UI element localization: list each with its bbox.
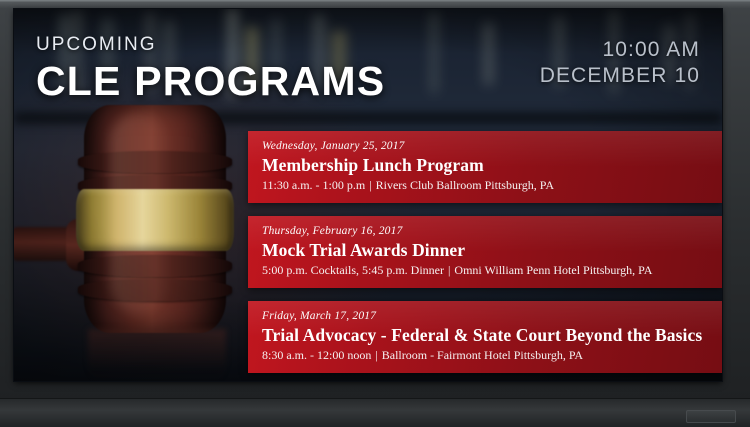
event-details: 5:00 p.m. Cocktails, 5:45 p.m. Dinner|Om… — [262, 263, 708, 278]
event-time: 11:30 a.m. - 1:00 p.m — [262, 178, 365, 192]
monitor-brand-plate — [686, 410, 736, 423]
display-screen: UPCOMING CLE PROGRAMS 10:00 AM DECEMBER … — [14, 9, 722, 381]
event-separator: | — [365, 178, 375, 192]
digital-signage-monitor: UPCOMING CLE PROGRAMS 10:00 AM DECEMBER … — [0, 0, 750, 427]
event-separator: | — [444, 263, 454, 277]
event-card[interactable]: Thursday, February 16, 2017 Mock Trial A… — [248, 216, 722, 288]
event-location: Rivers Club Ballroom Pittsburgh, PA — [376, 178, 554, 192]
gavel-reflection — [88, 329, 226, 381]
clock-block: 10:00 AM DECEMBER 10 — [540, 37, 700, 88]
bezel-top-edge — [0, 0, 750, 3]
event-time: 8:30 a.m. - 12:00 noon — [262, 348, 371, 362]
event-time: 5:00 p.m. Cocktails, 5:45 p.m. Dinner — [262, 263, 444, 277]
event-title: Mock Trial Awards Dinner — [262, 240, 708, 261]
event-details: 8:30 a.m. - 12:00 noon|Ballroom - Fairmo… — [262, 348, 708, 363]
kicker-text: UPCOMING — [36, 35, 385, 54]
gavel-highlight — [110, 113, 168, 313]
title-block: UPCOMING CLE PROGRAMS — [36, 35, 385, 102]
event-date: Wednesday, January 25, 2017 — [262, 140, 708, 154]
event-title: Membership Lunch Program — [262, 155, 708, 176]
event-title: Trial Advocacy - Federal & State Court B… — [262, 325, 708, 346]
current-date: DECEMBER 10 — [540, 63, 700, 89]
event-separator: | — [371, 348, 381, 362]
event-card[interactable]: Friday, March 17, 2017 Trial Advocacy - … — [248, 301, 722, 373]
event-date: Thursday, February 16, 2017 — [262, 225, 708, 239]
event-location: Ballroom - Fairmont Hotel Pittsburgh, PA — [382, 348, 583, 362]
bezel-bottom — [0, 398, 750, 427]
current-time: 10:00 AM — [540, 37, 700, 63]
header: UPCOMING CLE PROGRAMS 10:00 AM DECEMBER … — [14, 9, 722, 121]
gavel-image — [32, 97, 272, 357]
page-title: CLE PROGRAMS — [36, 61, 385, 102]
event-date: Friday, March 17, 2017 — [262, 310, 708, 324]
event-card[interactable]: Wednesday, January 25, 2017 Membership L… — [248, 131, 722, 203]
event-list: Wednesday, January 25, 2017 Membership L… — [248, 131, 722, 381]
event-details: 11:30 a.m. - 1:00 p.m|Rivers Club Ballro… — [262, 178, 708, 193]
event-location: Omni William Penn Hotel Pittsburgh, PA — [454, 263, 652, 277]
